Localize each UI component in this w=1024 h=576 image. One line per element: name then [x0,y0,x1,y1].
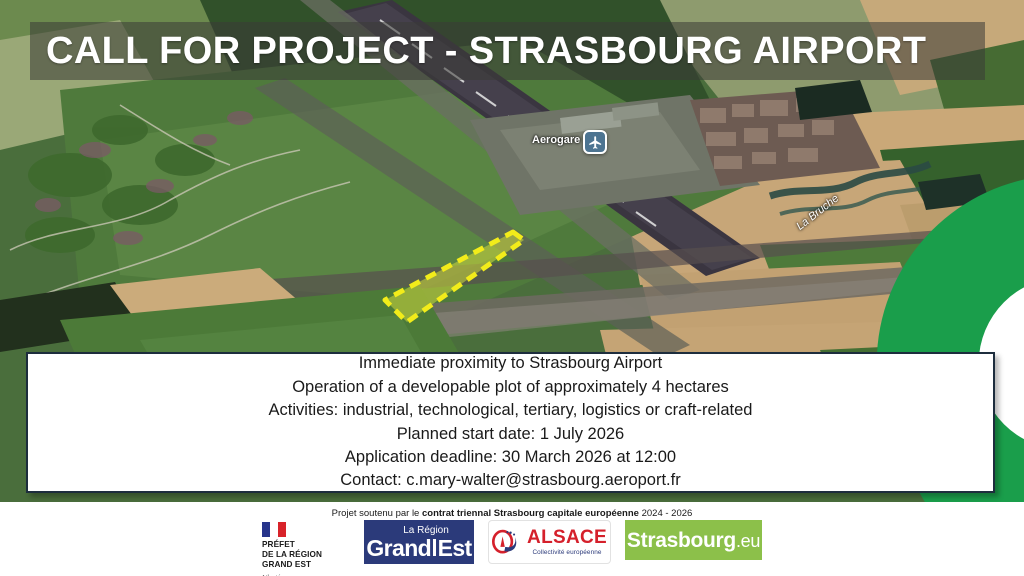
grand-est-word-1: Grand [366,537,431,560]
info-box: Immediate proximity to Strasbourg Airpor… [26,352,995,493]
logo-strasbourg[interactable]: Strasbourg.eu [625,520,762,560]
page-title: CALL FOR PROJECT - STRASBOURG AIRPORT [30,30,926,73]
slide-root: Aerogare La Bruche Ihn CALL FOR PROJECT … [0,0,1024,576]
logo-alsace[interactable]: ALSACE Collectivité européenne [488,520,611,564]
footer-credit-line: Projet soutenu par le contrat triennal S… [0,508,1024,519]
info-line-operation: Operation of a developable plot of appro… [292,376,729,399]
logo-grand-est[interactable]: La Région Grand Est [364,520,474,564]
strasbourg-name: Strasbourg [627,529,736,552]
info-line-start-date: Planned start date: 1 July 2026 [397,423,625,446]
airport-icon[interactable] [583,130,607,154]
logo-prefecture[interactable]: PRÉFET DE LA RÉGION GRAND EST Liberté Ég… [262,520,350,576]
airplane-icon [588,135,603,150]
alsace-emblem-icon [492,529,522,556]
info-line-activities: Activities: industrial, technological, t… [269,399,753,422]
prefet-line-1: PRÉFET [262,540,295,550]
credit-prefix: Projet soutenu par le [332,508,422,519]
footer: Projet soutenu par le contrat triennal S… [0,502,1024,576]
info-line-contact[interactable]: Contact: c.mary-walter@strasbourg.aeropo… [340,469,680,492]
grand-est-word-2: Est [438,537,472,560]
grand-est-wordmark: Grand Est [366,537,471,560]
french-flag-icon [262,522,286,537]
info-line-proximity: Immediate proximity to Strasbourg Airpor… [359,352,663,375]
alsace-name: ALSACE [527,528,607,547]
credit-suffix: 2024 - 2026 [639,508,692,519]
alsace-subtitle: Collectivité européenne [532,549,601,557]
prefet-line-3: GRAND EST [262,560,311,570]
grand-est-divider-icon [433,539,436,556]
info-line-deadline: Application deadline: 30 March 2026 at 1… [345,446,676,469]
alsace-wordmark: ALSACE Collectivité européenne [527,528,607,557]
credit-strong: contrat triennal Strasbourg capitale eur… [422,508,639,519]
map-label-terminal: Aerogare [532,134,580,146]
prefet-line-2: DE LA RÉGION [262,550,322,560]
partner-logos: PRÉFET DE LA RÉGION GRAND EST Liberté Ég… [0,520,1024,576]
strasbourg-wordmark: Strasbourg.eu [627,530,760,551]
grand-est-subtitle: La Région [389,526,449,536]
strasbourg-suffix: .eu [736,531,760,551]
title-banner: CALL FOR PROJECT - STRASBOURG AIRPORT [30,22,985,80]
